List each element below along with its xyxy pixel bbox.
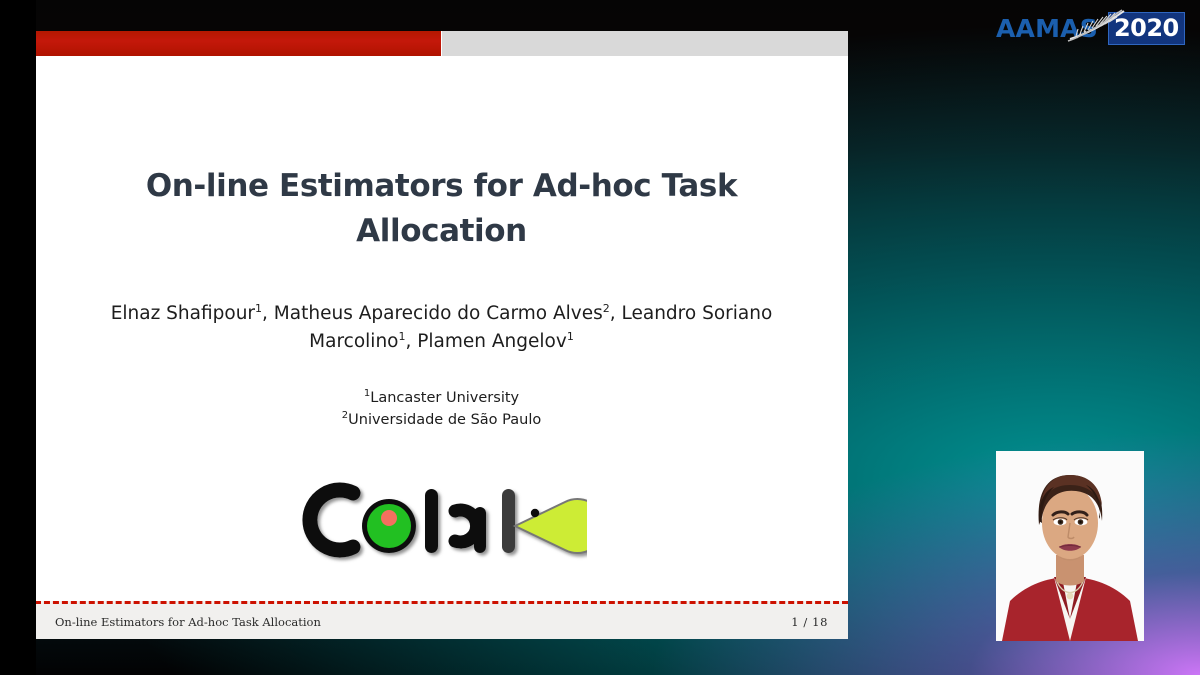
author-list: Elnaz Shafipour1, Matheus Aparecido do C… (61, 300, 822, 356)
logo-letter-a-stem (474, 507, 486, 553)
slide-canvas[interactable]: On-line Estimators for Ad-hoc Task Alloc… (35, 31, 848, 639)
author-1: Elnaz Shafipour (111, 303, 255, 324)
logo-letter-a-bowl (455, 510, 477, 542)
logo-letter-l (425, 489, 438, 553)
aamas-conference-logo: AAMAS 2020 (996, 12, 1185, 44)
affiliation-list: 1Lancaster University2Universidade de Sã… (61, 388, 822, 431)
logo-pacman-icon (515, 499, 587, 553)
author-1-affiliation-marker: 1 (255, 302, 262, 315)
logo-letter-c (309, 490, 352, 550)
page-title: On-line Estimators for Ad-hoc Task Alloc… (61, 164, 822, 254)
speaker-video-thumbnail[interactable] (996, 451, 1144, 641)
slide-progress-fill (35, 31, 442, 56)
author-2-affiliation-marker: 2 (603, 302, 610, 315)
logo-letter-o-dot (381, 510, 397, 526)
silver-fern-icon (1066, 8, 1128, 42)
logo-pacman-eye (530, 509, 538, 517)
affiliation-2: Universidade de São Paulo (348, 412, 541, 428)
slide-footer: On-line Estimators for Ad-hoc Task Alloc… (35, 601, 848, 639)
logo-letter-b-stem (502, 489, 515, 553)
presentation-stage: On-line Estimators for Ad-hoc Task Alloc… (0, 0, 1200, 675)
slide-content: On-line Estimators for Ad-hoc Task Alloc… (35, 56, 848, 601)
speaker-portrait (996, 451, 1144, 641)
footer-title: On-line Estimators for Ad-hoc Task Alloc… (55, 615, 791, 629)
author-4: , Plamen Angelov (405, 331, 566, 352)
author-4-affiliation-marker: 1 (567, 330, 574, 343)
page-indicator: 1 / 18 (791, 615, 828, 629)
author-2: , Matheus Aparecido do Carmo Alves (262, 303, 603, 324)
affiliation-1: Lancaster University (370, 390, 519, 406)
slide-progress-bar (35, 31, 848, 56)
colab-logo (61, 475, 822, 565)
colab-logo-graphic (297, 475, 587, 565)
